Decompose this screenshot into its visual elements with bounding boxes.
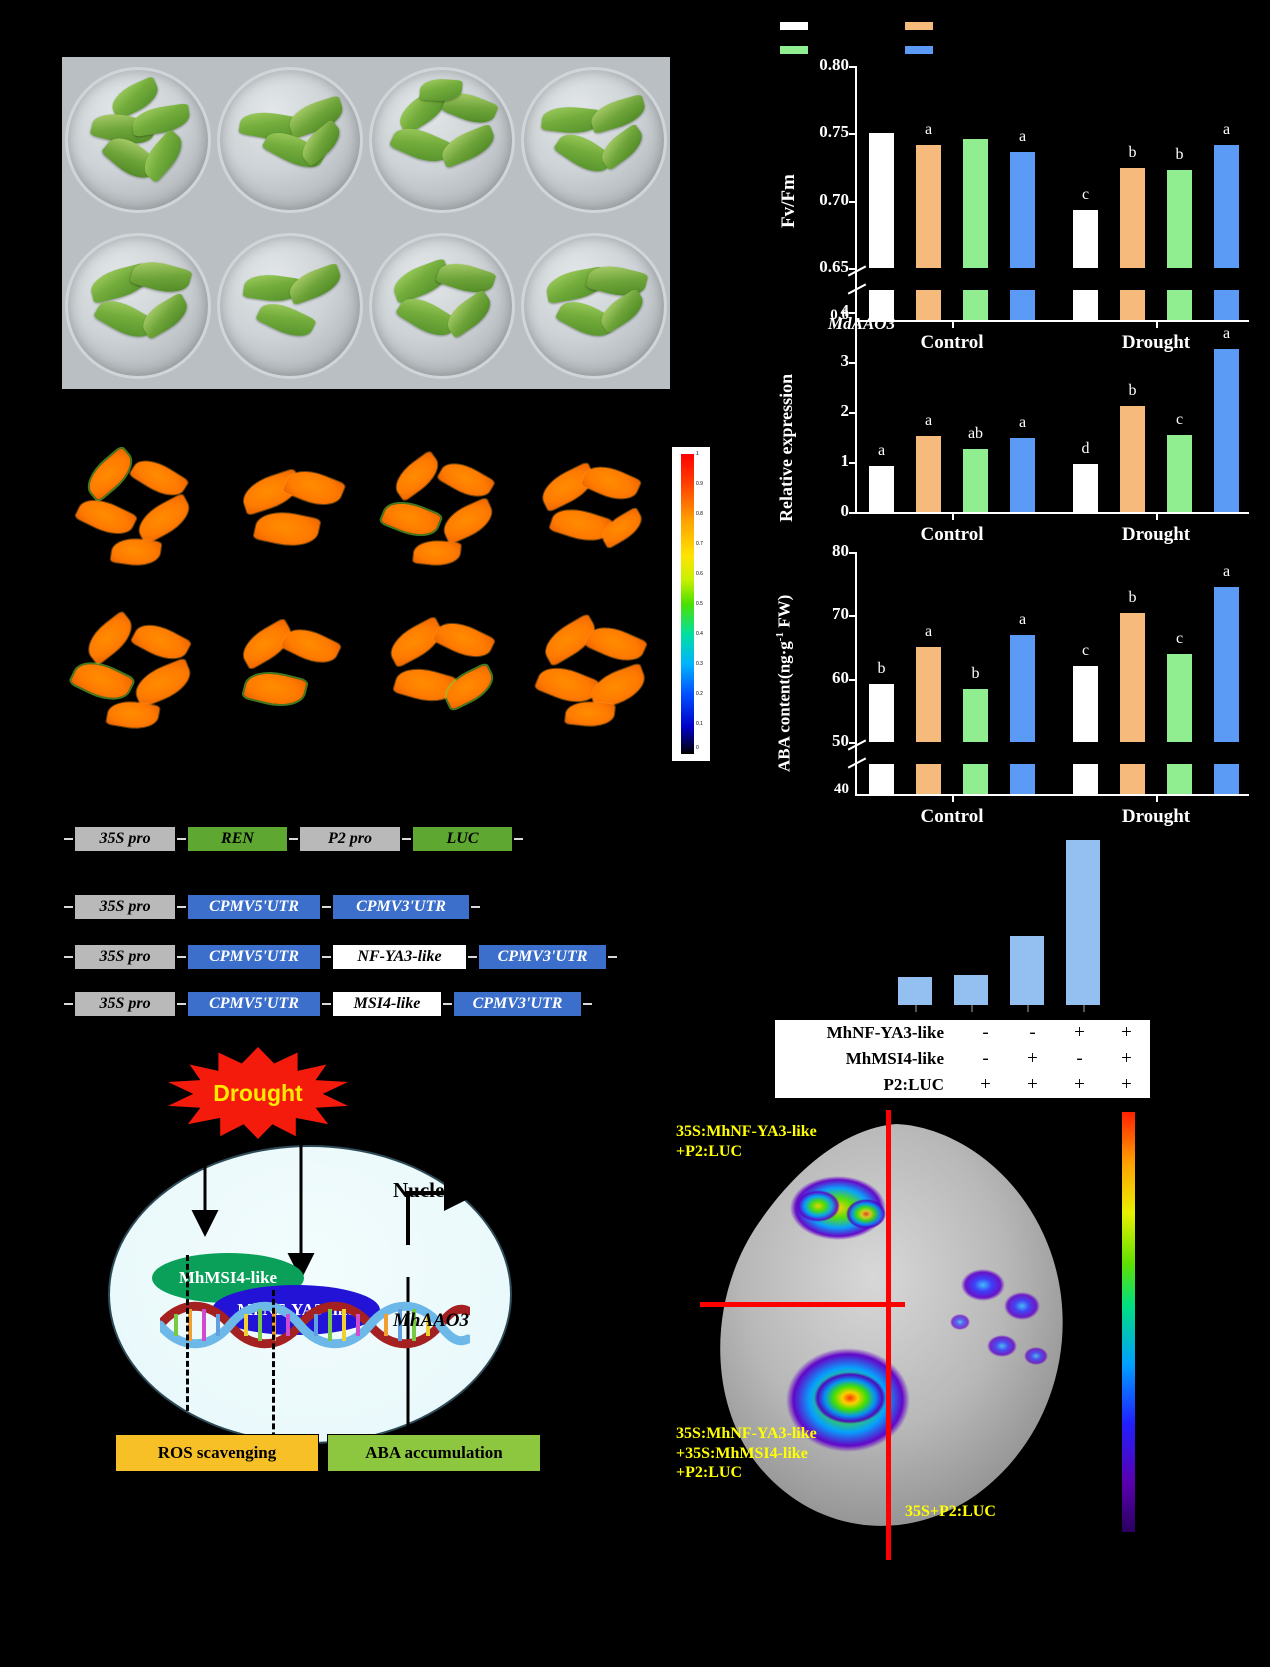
construct-element-gray: 35S pro: [73, 825, 177, 853]
y-tick-label: 0.70: [795, 190, 849, 210]
axis-break-mark: [848, 283, 867, 294]
bar: [1214, 145, 1239, 268]
bar-stub: [1073, 764, 1098, 794]
y-tick: [849, 412, 856, 414]
colorbar-tick: 0.8: [696, 511, 703, 517]
construct-element-white: MSI4-like: [331, 990, 443, 1018]
significance-letter: b: [1120, 382, 1145, 400]
significance-letter: a: [1010, 414, 1035, 432]
drought-label: Drought: [213, 1080, 302, 1107]
y-tick-label: 3: [795, 351, 849, 371]
y-axis: [855, 66, 857, 320]
bar: [1073, 210, 1098, 268]
y-tick-label: 1: [795, 451, 849, 471]
construct-connector: [289, 838, 298, 840]
construct-element-gray: 35S pro: [73, 893, 177, 921]
protein-mhmsi4-label: MhMSI4-like: [179, 1268, 277, 1288]
y-tick-label: 50: [795, 731, 849, 751]
construct-connector: [402, 838, 411, 840]
colorbar-tick: 0.4: [696, 631, 703, 637]
plate-photo: [518, 223, 670, 389]
bar: [916, 647, 941, 742]
aba-ylabel-tail: FW): [775, 595, 794, 632]
construct-connector: [322, 956, 331, 958]
bar: [1010, 635, 1035, 742]
bar-stub: [963, 764, 988, 794]
x-tick: [952, 794, 954, 802]
luciferase-imaging-panel: [700, 1110, 1100, 1560]
pm-cell: +: [1103, 1046, 1150, 1072]
construct-element-blue: CPMV5'UTR: [186, 990, 322, 1018]
colorbar-tick: 0.3: [696, 661, 703, 667]
plate-photo: [366, 57, 518, 223]
luc-label-bottom-left-line1: 35S:MhNF-YA3-like: [676, 1424, 817, 1444]
y-tick: [849, 133, 856, 135]
luc-label-top-left-line1: 35S:MhNF-YA3-like: [676, 1122, 817, 1142]
colorbar-tick: 0: [696, 745, 699, 751]
plus-minus-table: MhNF-YA3-like--++MhMSI4-like-+-+P2:LUC++…: [775, 1020, 1150, 1098]
luc-label-bottom-left-line2: +35S:MhMSI4-like: [676, 1444, 817, 1464]
significance-letter: c: [1073, 186, 1098, 204]
bar: [963, 449, 988, 513]
x-axis: [855, 794, 1249, 796]
construct-element-white: NF-YA3-like: [331, 943, 468, 971]
plate-photo: [62, 223, 214, 389]
dashed-guide-left: [186, 1255, 189, 1455]
construct-effector-1: 35S proCPMV5'UTRCPMV3'UTR: [64, 892, 480, 922]
construct-connector: [514, 838, 523, 840]
fluorescence-leaf: [214, 443, 366, 602]
fluorescence-image-grid: [62, 443, 670, 761]
y-tick: [849, 552, 856, 554]
pm-cell: +: [962, 1072, 1009, 1098]
construct-connector: [64, 956, 73, 958]
y-tick: [849, 66, 856, 68]
pm-table-row: P2:LUC++++: [775, 1072, 1150, 1098]
fluorescence-leaf: [366, 602, 518, 761]
y-tick-label: 2: [795, 401, 849, 421]
construct-element-blue: CPMV5'UTR: [186, 943, 322, 971]
pm-cell: +: [1009, 1072, 1056, 1098]
bar: [869, 133, 894, 268]
chart-luc-activity: [890, 840, 1150, 1015]
bar-stub: [1120, 764, 1145, 794]
chart-fvfm: Fv/Fm 0.800.750.700.650.0aaControlcbbaDr…: [760, 58, 1160, 298]
y-tick: [849, 615, 856, 617]
pm-table-row: MhNF-YA3-like--++: [775, 1020, 1150, 1046]
pm-row-label: MhNF-YA3-like: [775, 1020, 962, 1046]
y-tick-label: 60: [795, 668, 849, 688]
legend-swatch-line2: [780, 46, 808, 54]
construct-element-blue: CPMV5'UTR: [186, 893, 322, 921]
pm-cell: +: [1056, 1020, 1103, 1046]
significance-letter: a: [916, 121, 941, 139]
nucleus-label: Nucleus: [393, 1178, 464, 1203]
bar-stub: [1167, 764, 1192, 794]
significance-letter: b: [1120, 589, 1145, 607]
construct-connector: [468, 956, 477, 958]
construct-connector: [64, 838, 73, 840]
bar: [1073, 464, 1098, 513]
significance-letter: a: [916, 412, 941, 430]
fluorescence-leaf: [62, 443, 214, 602]
legend-swatch-line3: [905, 46, 933, 54]
construct-element-blue: CPMV3'UTR: [452, 990, 583, 1018]
significance-letter: c: [1167, 411, 1192, 429]
pm-cell: +: [1103, 1072, 1150, 1098]
construct-connector: [322, 906, 331, 908]
colorbar-tick: 0.6: [696, 571, 703, 577]
phenotype-photo-grid: [62, 57, 670, 390]
luc-x-tick: [1027, 1005, 1029, 1012]
pm-cell: -: [962, 1046, 1009, 1072]
bar-stub: [1010, 764, 1035, 794]
construct-connector: [177, 906, 186, 908]
legend-swatch-wt: [780, 22, 808, 30]
pm-cell: -: [962, 1020, 1009, 1046]
fluorescence-leaf: [518, 602, 670, 761]
significance-letter: c: [1073, 642, 1098, 660]
significance-letter: b: [869, 660, 894, 678]
luciferase-colorbar: [1122, 1112, 1135, 1532]
target-gene-label: MhAAO3: [393, 1310, 469, 1332]
y-tick-label: 0.80: [795, 55, 849, 75]
pm-row-label: MhMSI4-like: [775, 1046, 962, 1072]
construct-effector-3: 35S proCPMV5'UTRMSI4-likeCPMV3'UTR: [64, 989, 592, 1019]
plate-photo: [214, 223, 366, 389]
y-tick-label-zero: 40: [795, 781, 849, 798]
plate-photo: [518, 57, 670, 223]
pm-cell: +: [1056, 1072, 1103, 1098]
bar-stub: [1167, 290, 1192, 320]
luc-bar: [898, 977, 932, 1005]
bar: [1120, 168, 1145, 268]
plate-photo: [366, 223, 518, 389]
colorbar-tick: 0.5: [696, 601, 703, 607]
significance-letter: b: [1120, 144, 1145, 162]
crosshair-horizontal: [700, 1302, 905, 1307]
bar: [869, 684, 894, 742]
y-tick-label: 4: [795, 301, 849, 321]
luc-bar: [954, 975, 988, 1005]
construct-connector: [583, 1003, 592, 1005]
pm-table-row: MhMSI4-like-+-+: [775, 1046, 1150, 1072]
luc-label-top-left-line2: +P2:LUC: [676, 1142, 817, 1162]
outcome-ros-label: ROS scavenging: [158, 1443, 277, 1463]
fluorescence-colorbar: 1 0.9 0.8 0.7 0.6 0.5 0.4 0.3 0.2 0.1 0: [672, 447, 710, 761]
significance-letter: c: [1167, 630, 1192, 648]
outcome-ros-box: ROS scavenging: [115, 1434, 319, 1472]
chart-legend: [780, 18, 1160, 60]
y-tick-label: 0.65: [795, 257, 849, 277]
chart-mdaao3-ylabel: Relative expression: [776, 374, 797, 522]
plate-photo: [62, 57, 214, 223]
pm-cell: -: [1056, 1046, 1103, 1072]
luc-x-tick: [915, 1005, 917, 1012]
colorbar-tick: 0.7: [696, 541, 703, 547]
bar-stub: [916, 764, 941, 794]
significance-letter: a: [1214, 325, 1239, 343]
pm-cell: +: [1103, 1020, 1150, 1046]
luc-label-bottom-left: 35S:MhNF-YA3-like +35S:MhMSI4-like +P2:L…: [676, 1424, 817, 1483]
bar: [963, 689, 988, 742]
bar: [916, 436, 941, 512]
construct-connector: [608, 956, 617, 958]
bar: [1167, 435, 1192, 513]
bar: [1167, 170, 1192, 268]
pm-cell: +: [1009, 1046, 1056, 1072]
x-tick: [952, 512, 954, 520]
pm-row-label: P2:LUC: [775, 1072, 962, 1098]
bar: [869, 466, 894, 513]
colorbar-tick: 1: [696, 451, 699, 457]
significance-letter: a: [1010, 611, 1035, 629]
luc-x-tick: [971, 1005, 973, 1012]
significance-letter: b: [1167, 146, 1192, 164]
crosshair-vertical: [886, 1110, 891, 1560]
luc-bar: [1066, 840, 1100, 1005]
y-tick-label: 0.75: [795, 122, 849, 142]
axis-break-mark: [848, 757, 867, 768]
construct-element-green: REN: [186, 825, 289, 853]
bar: [1214, 587, 1239, 742]
construct-element-blue: CPMV3'UTR: [331, 893, 471, 921]
bar-stub: [1214, 290, 1239, 320]
chart-mdaao3: Relative expression MdAAO3 43210aaabaCon…: [760, 300, 1160, 540]
y-tick: [849, 312, 856, 314]
bar-stub: [1214, 764, 1239, 794]
significance-letter: b: [963, 665, 988, 683]
colorbar-tick: 0.9: [696, 481, 703, 487]
y-tick: [849, 512, 856, 514]
bar: [1120, 406, 1145, 512]
fluorescence-leaf: [518, 443, 670, 602]
y-tick-label: 0: [795, 501, 849, 521]
significance-letter: d: [1073, 440, 1098, 458]
luc-label-bottom-right: 35S+P2:LUC: [905, 1502, 996, 1522]
fluorescence-leaf: [214, 602, 366, 761]
bar: [1167, 654, 1192, 742]
construct-effector-2: 35S proCPMV5'UTRNF-YA3-likeCPMV3'UTR: [64, 942, 617, 972]
luc-x-tick: [1083, 1005, 1085, 1012]
luc-bar: [1010, 936, 1044, 1005]
bar: [1214, 349, 1239, 512]
significance-letter: a: [1010, 128, 1035, 146]
aba-ylabel-sup: -1: [774, 632, 786, 641]
bar: [1010, 438, 1035, 513]
pm-cell: -: [1009, 1020, 1056, 1046]
aba-ylabel-main: ABA content(ng·g: [775, 641, 794, 772]
x-group-label: Control: [855, 806, 1049, 828]
significance-letter: a: [1214, 563, 1239, 581]
fluorescence-leaf: [62, 602, 214, 761]
colorbar-tick: 0.1: [696, 721, 703, 727]
significance-letter: a: [869, 442, 894, 460]
y-tick: [849, 679, 856, 681]
bar: [1073, 666, 1098, 742]
construct-connector: [177, 956, 186, 958]
construct-element-gray: P2 pro: [298, 825, 402, 853]
bar-stub: [869, 764, 894, 794]
y-axis: [855, 552, 857, 794]
luc-label-bottom-left-line3: +P2:LUC: [676, 1463, 817, 1483]
y-tick: [849, 362, 856, 364]
construct-connector: [64, 1003, 73, 1005]
colorbar-tick: 0.2: [696, 691, 703, 697]
y-tick: [849, 201, 856, 203]
significance-letter: a: [916, 623, 941, 641]
y-tick: [849, 462, 856, 464]
outcome-aba-box: ABA accumulation: [327, 1434, 541, 1472]
construct-connector: [64, 906, 73, 908]
construct-reporter: 35S proRENP2 proLUC: [64, 824, 523, 854]
y-tick-label: 70: [795, 604, 849, 624]
x-tick: [1156, 512, 1158, 520]
fluorescence-leaf: [366, 443, 518, 602]
significance-letter: ab: [963, 425, 988, 443]
significance-letter: a: [1214, 121, 1239, 139]
chart-aba: ABA content(ng·g-1 FW) 8070605040babaCon…: [760, 540, 1160, 785]
bar: [916, 145, 941, 268]
construct-connector: [471, 906, 480, 908]
plate-photo: [214, 57, 366, 223]
construct-connector: [322, 1003, 331, 1005]
x-axis: [855, 512, 1249, 514]
construct-connector: [177, 838, 186, 840]
y-tick-label: 80: [795, 541, 849, 561]
construct-element-green: LUC: [411, 825, 514, 853]
chart-aba-ylabel: ABA content(ng·g-1 FW): [774, 595, 795, 772]
construct-element-blue: CPMV3'UTR: [477, 943, 608, 971]
bar: [1120, 613, 1145, 742]
x-group-label: Drought: [1059, 806, 1253, 828]
legend-swatch-line1: [905, 22, 933, 30]
bar: [1010, 152, 1035, 268]
construct-element-gray: 35S pro: [73, 990, 177, 1018]
bar: [963, 139, 988, 268]
construct-element-gray: 35S pro: [73, 943, 177, 971]
luc-label-top-left: 35S:MhNF-YA3-like +P2:LUC: [676, 1122, 817, 1161]
construct-connector: [443, 1003, 452, 1005]
outcome-aba-label: ABA accumulation: [365, 1443, 502, 1463]
x-tick: [1156, 794, 1158, 802]
construct-connector: [177, 1003, 186, 1005]
